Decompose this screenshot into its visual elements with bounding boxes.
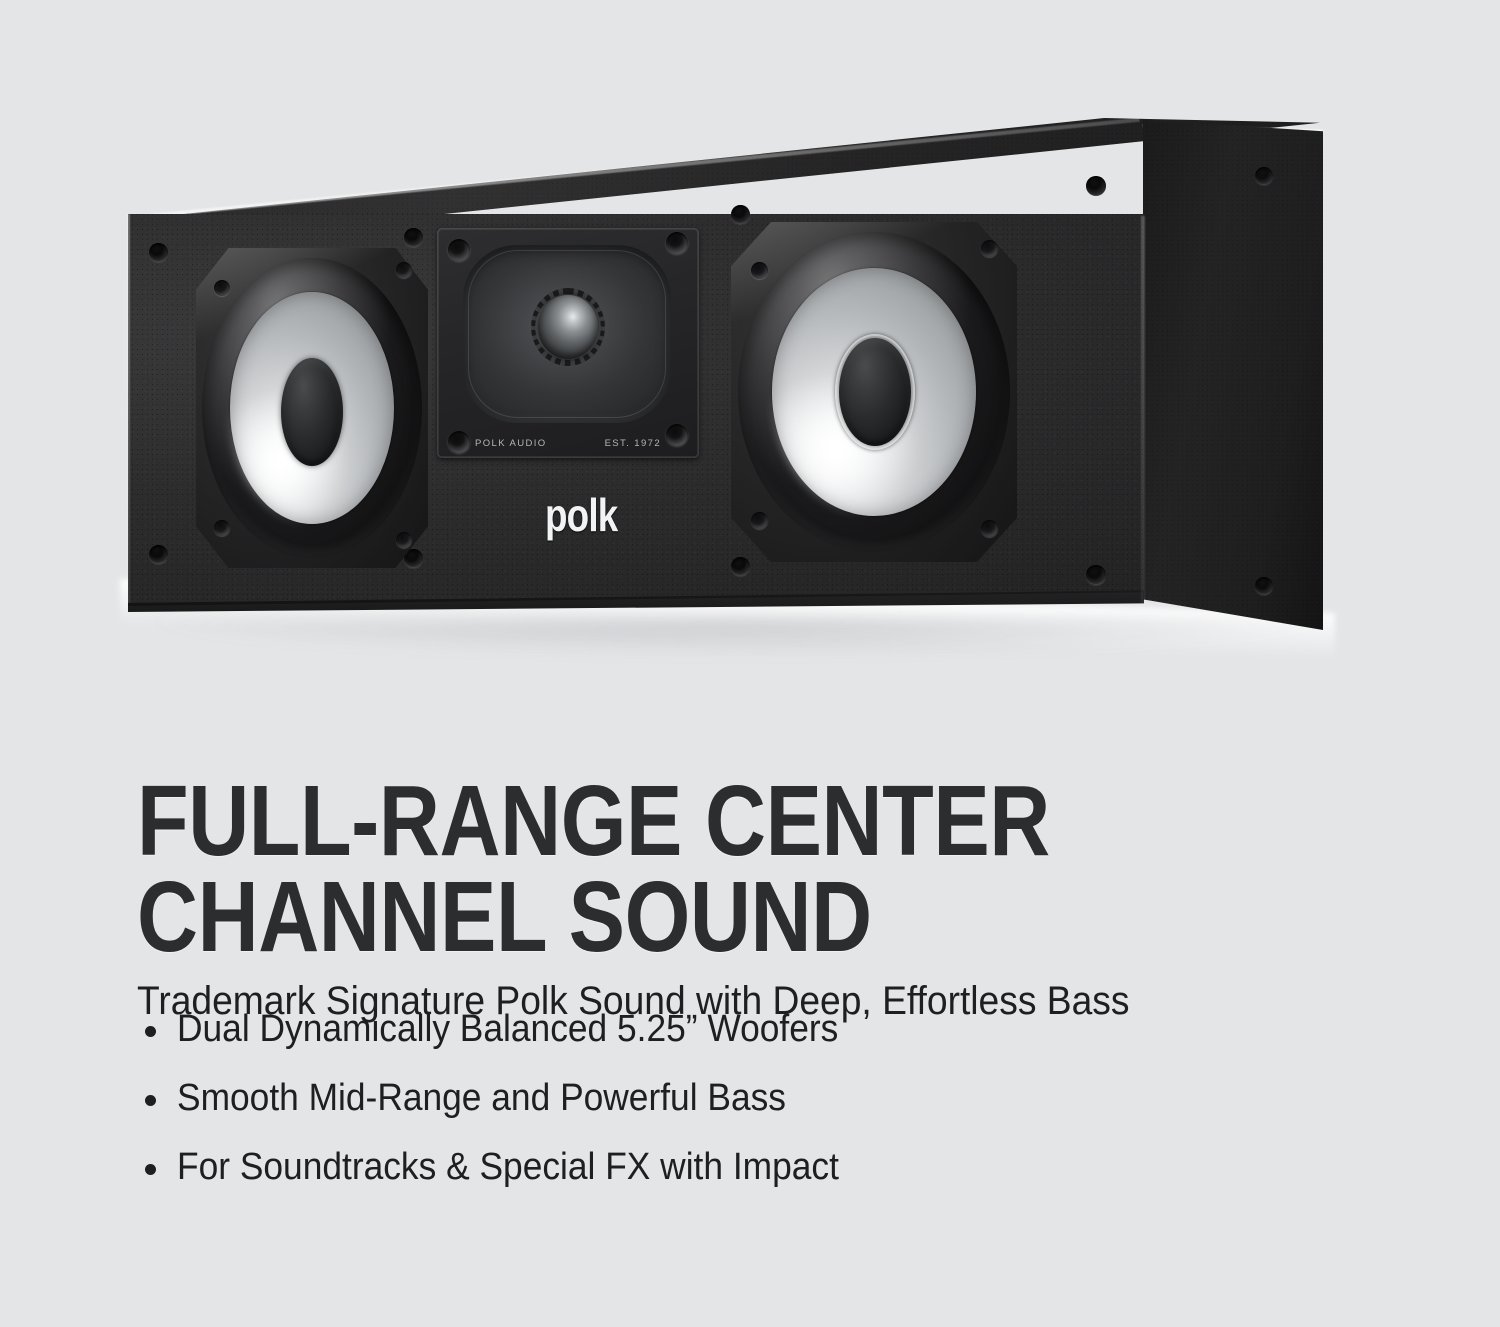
- bullet-text: Smooth Mid-Range and Powerful Bass: [177, 1078, 786, 1119]
- grille-mount-dimple: [149, 545, 168, 564]
- grille-mount-dimple: [1255, 577, 1273, 595]
- tweeter-plate-screw: [448, 431, 470, 453]
- tweeter-dome: [538, 295, 598, 359]
- tweeter-plate-brand-label: POLK AUDIO: [475, 438, 547, 449]
- center-channel-speaker: POLK AUDIO EST. 1972 polk: [0, 0, 1500, 690]
- woofer-mount-screw: [751, 512, 768, 529]
- tweeter-plate-screw: [666, 424, 688, 446]
- cabinet-corner-seam: [1141, 216, 1145, 604]
- woofer-mount-screw: [981, 520, 998, 537]
- product-image: POLK AUDIO EST. 1972 polk: [0, 0, 1500, 690]
- bullet-text: For Soundtracks & Special FX with Impact: [177, 1147, 839, 1188]
- baffle-left-edge-highlight: [127, 214, 130, 606]
- woofer-mount-screw: [396, 532, 412, 548]
- tweeter-plate-screw: [448, 239, 470, 261]
- tweeter-module: POLK AUDIO EST. 1972: [437, 228, 699, 458]
- woofer-mount-screw: [214, 520, 230, 536]
- grille-mount-dimple: [1255, 167, 1273, 185]
- grille-mount-dimple: [149, 243, 168, 262]
- polk-brand-wordmark: polk: [545, 492, 617, 538]
- grille-mount-dimple: [404, 228, 423, 247]
- list-item: For Soundtracks & Special FX with Impact: [137, 1147, 889, 1188]
- list-item: Smooth Mid-Range and Powerful Bass: [137, 1078, 889, 1119]
- grille-mount-dimple: [1086, 565, 1106, 585]
- woofer-dust-cap: [281, 358, 343, 466]
- bullet-text: Dual Dynamically Balanced 5.25” Woofers: [177, 1009, 838, 1050]
- woofer-mount-screw: [751, 262, 768, 279]
- drop-shadow: [150, 618, 1330, 654]
- feature-copy-block: FULL-RANGE CENTER CHANNEL SOUND Trademar…: [0, 690, 1500, 1327]
- feature-bullet-list: Dual Dynamically Balanced 5.25” Woofers …: [137, 1009, 889, 1216]
- tweeter-plate-screw: [666, 232, 688, 254]
- top-edge-highlight: [128, 118, 1140, 220]
- woofer-left: [196, 248, 428, 568]
- cabinet-side-panel: [1143, 120, 1323, 630]
- grille-mount-dimple: [1086, 176, 1106, 196]
- cabinet-top-panel: [128, 118, 1320, 224]
- feature-headline: FULL-RANGE CENTER CHANNEL SOUND: [137, 773, 1151, 965]
- woofer-mount-screw: [396, 262, 412, 278]
- woofer-mount-screw: [981, 240, 998, 257]
- woofer-right: [731, 222, 1017, 562]
- woofer-dust-cap: [839, 338, 911, 446]
- woofer-mount-screw: [214, 280, 230, 296]
- tweeter-plate-est-label: EST. 1972: [605, 438, 661, 449]
- list-item: Dual Dynamically Balanced 5.25” Woofers: [137, 1009, 889, 1050]
